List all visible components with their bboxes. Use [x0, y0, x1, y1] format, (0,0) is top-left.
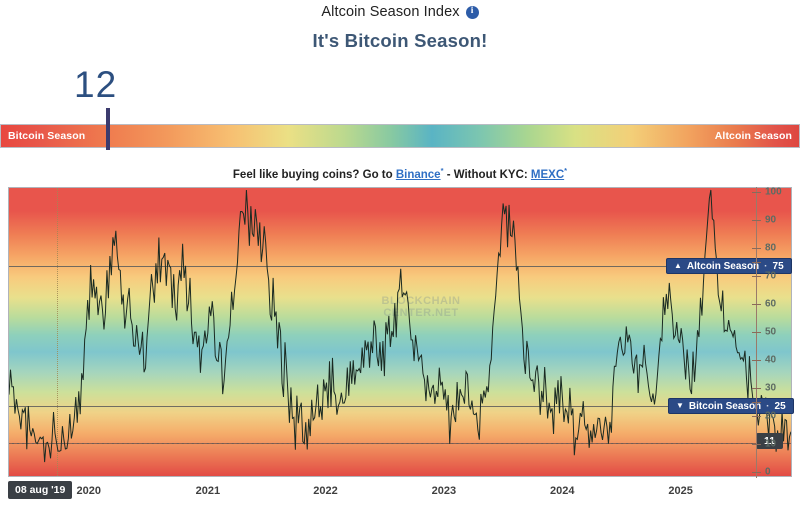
y-tick-label: 20 [765, 411, 776, 422]
y-tick [752, 192, 761, 193]
index-line-path [9, 190, 791, 462]
x-tick-label: 2020 [77, 485, 101, 497]
season-status-heading: It's Bitcoin Season! [0, 30, 800, 52]
info-icon[interactable]: i [466, 6, 479, 19]
x-tick-label: 2023 [432, 485, 456, 497]
x-tick-label: 2021 [196, 485, 220, 497]
triangle-up-icon: ▲ [674, 262, 682, 270]
y-axis: 0102030405060708090100 [752, 187, 800, 478]
y-tick [752, 402, 761, 403]
y-tick-label: 80 [765, 243, 776, 254]
mexc-asterisk: * [564, 166, 567, 175]
triangle-down-icon: ▼ [676, 402, 684, 410]
index-value: 12 [74, 66, 117, 103]
y-tick [752, 360, 761, 361]
y-tick-label: 30 [765, 383, 776, 394]
x-tick-label: 2022 [313, 485, 337, 497]
y-tick-label: 90 [765, 215, 776, 226]
y-tick [752, 220, 761, 221]
gauge-gradient [0, 124, 800, 148]
gauge-label-bitcoin-season: Bitcoin Season [8, 124, 85, 148]
x-tick-label: 2024 [550, 485, 574, 497]
y-tick [752, 388, 761, 389]
promo-middle: - Without KYC: [444, 169, 531, 181]
altcoin-season-index-page: Altcoin Season Index i It's Bitcoin Seas… [0, 0, 800, 512]
y-tick-label: 10 [765, 439, 776, 450]
season-gauge: Bitcoin Season Altcoin Season [0, 124, 800, 148]
y-tick-label: 0 [765, 467, 771, 478]
y-tick [752, 332, 761, 333]
promo-line: Feel like buying coins? Go to Binance* -… [0, 166, 800, 181]
y-tick [752, 248, 761, 249]
y-tick-label: 50 [765, 327, 776, 338]
y-tick [752, 416, 761, 417]
y-tick [752, 276, 761, 277]
index-line-series [9, 188, 791, 477]
x-axis: 08 aug '19 202020212022202320242025 [0, 481, 800, 507]
y-tick [752, 444, 761, 445]
y-tick-label: 70 [765, 271, 776, 282]
altcoin-badge-label: Altcoin Season [687, 261, 759, 272]
page-title: Altcoin Season Index [321, 4, 459, 20]
y-tick [752, 262, 761, 263]
gauge-marker [106, 108, 110, 150]
y-tick [752, 472, 761, 473]
x-tick-label: 2025 [668, 485, 692, 497]
binance-link[interactable]: Binance [396, 169, 441, 181]
y-tick-label: 60 [765, 299, 776, 310]
y-tick-label: 100 [765, 187, 782, 198]
promo-prefix: Feel like buying coins? Go to [233, 169, 396, 181]
y-tick [752, 304, 761, 305]
mexc-link[interactable]: MEXC [531, 169, 564, 181]
y-tick-label: 40 [765, 355, 776, 366]
altcoin-season-chart[interactable]: BLOCKCHAIN CENTER.NET [8, 187, 792, 477]
start-date-badge: 08 aug '19 [8, 481, 72, 499]
page-title-row: Altcoin Season Index i [0, 2, 800, 22]
bitcoin-badge-label: Bitcoin Season [689, 401, 761, 412]
gauge-label-altcoin-season: Altcoin Season [715, 124, 792, 148]
